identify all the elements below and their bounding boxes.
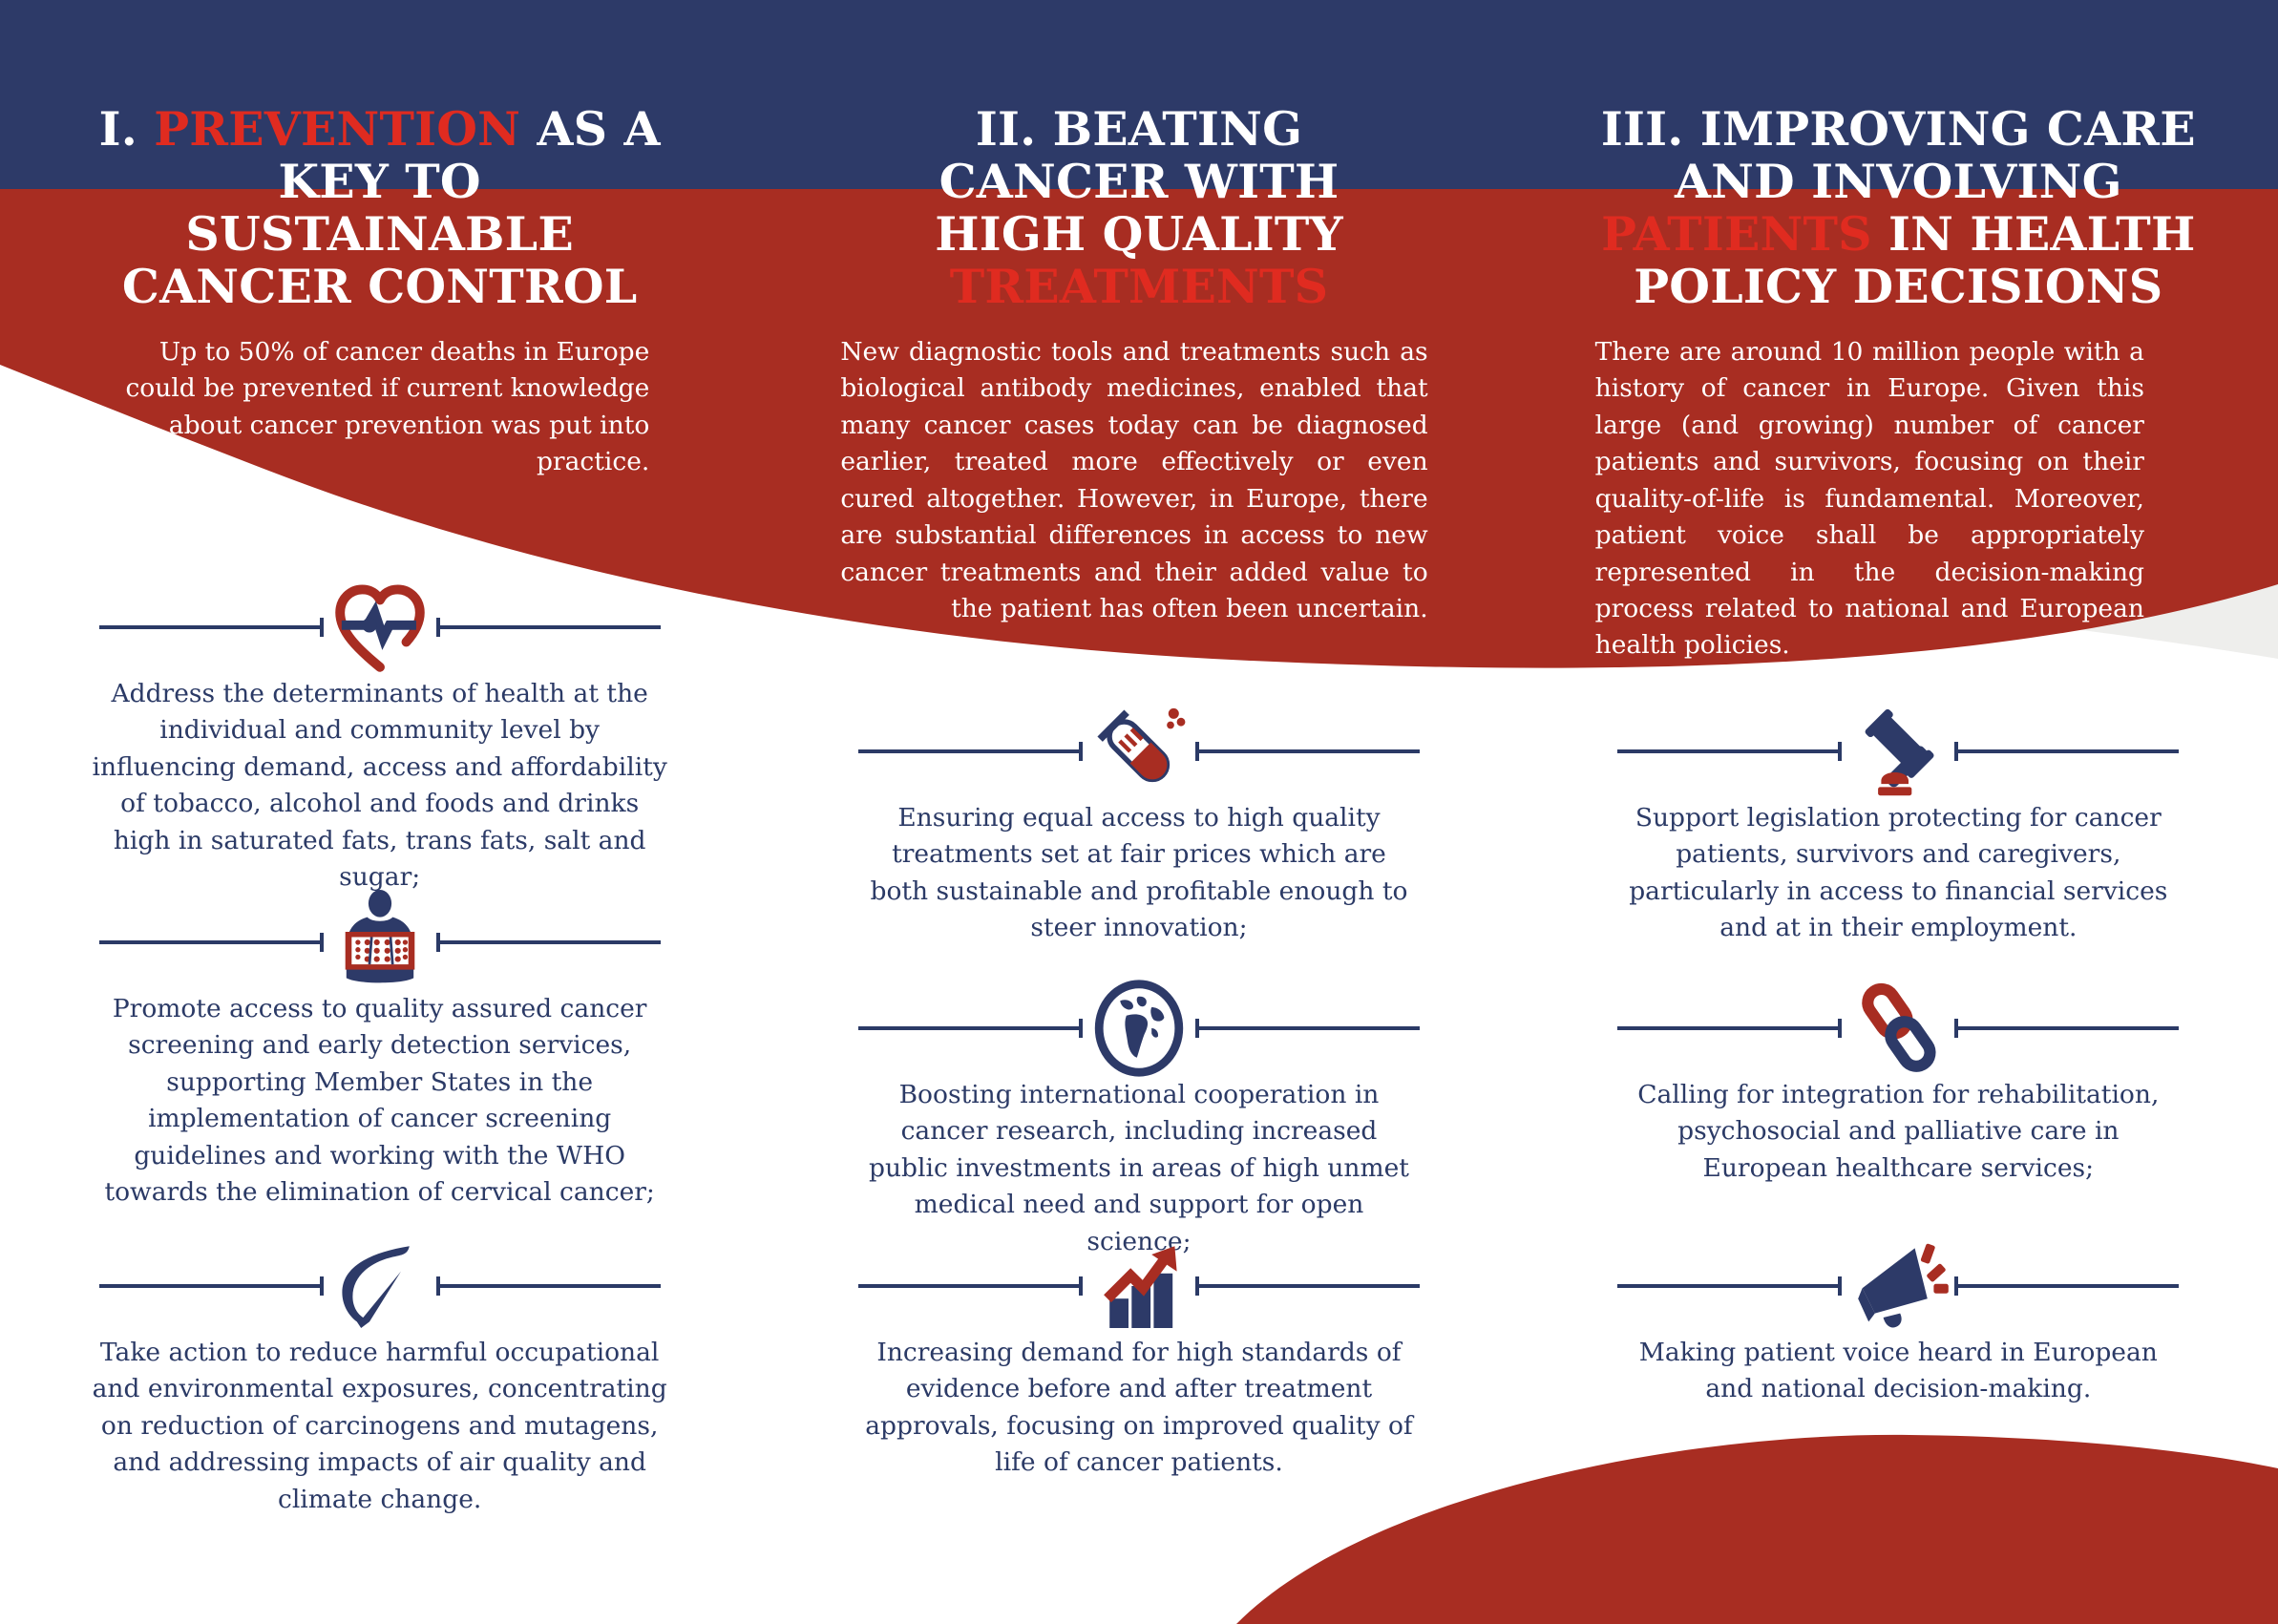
list-item-text: Increasing demand for high standards of … [862, 1335, 1416, 1482]
divider-rule-right [1954, 749, 2179, 753]
heart-pulse-icon [324, 571, 436, 684]
divider-rule-left [99, 1284, 324, 1288]
item-divider [759, 993, 1518, 1064]
divider-rule-left [858, 749, 1083, 753]
divider-rule-right [1195, 1026, 1420, 1030]
list-item: Boosting international cooperation in ca… [759, 993, 1518, 1260]
list-item-text: Promote access to quality assured cancer… [89, 991, 671, 1212]
divider-rule-left [1617, 1284, 1842, 1288]
divider-rule-right [1195, 1284, 1420, 1288]
list-item: Ensuring equal access to high quality tr… [759, 716, 1518, 947]
mammography-screening-icon [324, 886, 436, 999]
divider-rule-right [1195, 749, 1420, 753]
blood-sample-tube-icon [1083, 695, 1195, 808]
item-divider [0, 907, 759, 978]
list-item: Making patient voice heard in European a… [1519, 1251, 2278, 1408]
divider-rule-left [99, 625, 324, 629]
divider-rule-left [99, 940, 324, 944]
item-divider [1519, 716, 2278, 787]
divider-rule-right [1954, 1284, 2179, 1288]
list-item: Take action to reduce harmful occupation… [0, 1251, 759, 1518]
list-item-text: Ensuring equal access to high quality tr… [862, 800, 1416, 947]
list-item-text: Support legislation protecting for cance… [1616, 800, 2180, 947]
divider-rule-left [858, 1284, 1083, 1288]
item-divider [1519, 993, 2278, 1064]
item-divider [0, 1251, 759, 1321]
list-item-text: Take action to reduce harmful occupation… [89, 1335, 671, 1518]
column-prevention: Address the determinants of health at th… [0, 0, 759, 1624]
content-columns: Address the determinants of health at th… [0, 0, 2278, 1624]
globe-icon [1083, 972, 1195, 1085]
item-divider [0, 592, 759, 663]
divider-rule-right [436, 940, 661, 944]
megaphone-icon [1842, 1230, 1954, 1342]
infographic-page: I. PREVENTION AS A KEY TO SUSTAINABLE CA… [0, 0, 2278, 1624]
divider-rule-left [1617, 1026, 1842, 1030]
list-item: Increasing demand for high standards of … [759, 1251, 1518, 1482]
item-divider [759, 1251, 1518, 1321]
column-patients: Support legislation protecting for cance… [1519, 0, 2278, 1624]
item-divider [1519, 1251, 2278, 1321]
item-divider [759, 716, 1518, 787]
list-item: Calling for integration for rehabilitati… [1519, 993, 2278, 1187]
chain-link-icon [1842, 972, 1954, 1085]
list-item-text: Address the determinants of health at th… [89, 676, 671, 896]
divider-rule-right [436, 625, 661, 629]
list-item: Address the determinants of health at th… [0, 592, 759, 896]
list-item-text: Making patient voice heard in European a… [1616, 1335, 2180, 1408]
divider-rule-left [1617, 749, 1842, 753]
leaf-icon [324, 1230, 436, 1342]
list-item: Support legislation protecting for cance… [1519, 716, 2278, 947]
divider-rule-left [858, 1026, 1083, 1030]
growth-bar-chart-icon [1083, 1230, 1195, 1342]
gavel-icon [1842, 695, 1954, 808]
list-item: Promote access to quality assured cancer… [0, 907, 759, 1212]
divider-rule-right [436, 1284, 661, 1288]
list-item-text: Calling for integration for rehabilitati… [1616, 1077, 2180, 1187]
column-treatments: Ensuring equal access to high quality tr… [759, 0, 1518, 1624]
divider-rule-right [1954, 1026, 2179, 1030]
